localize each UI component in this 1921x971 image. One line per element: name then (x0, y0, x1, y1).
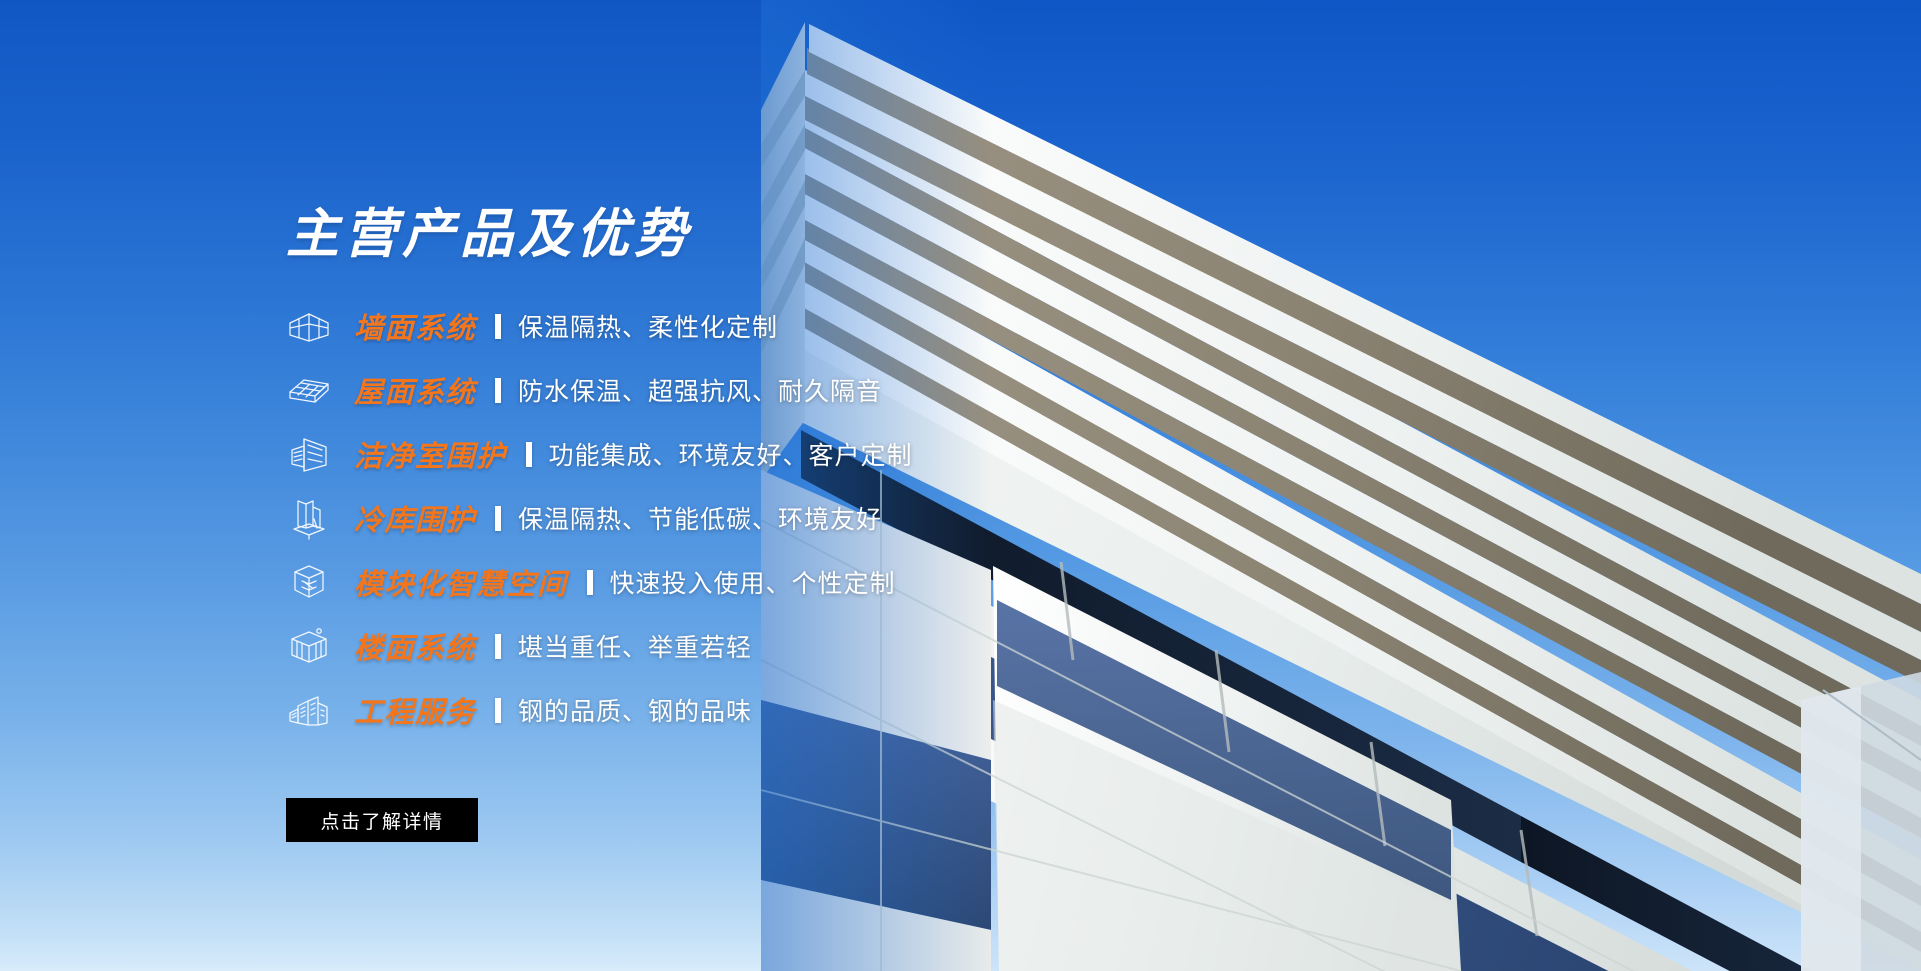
product-description: 防水保温、超强抗风、耐久隔音 (518, 372, 882, 408)
modular-cube-icon (286, 559, 332, 605)
title-separator (495, 314, 501, 339)
product-title: 楼面系统 (354, 625, 476, 667)
list-item[interactable]: 模块化智慧空间 快速投入使用、个性定制 (286, 550, 1266, 614)
promo-content: 主营产品及优势 墙面系统 保温隔热、柔性化定制 (286, 0, 1266, 971)
product-description: 快速投入使用、个性定制 (610, 564, 896, 600)
product-description: 功能集成、环境友好、客户定制 (549, 436, 913, 472)
list-item[interactable]: 楼面系统 堪当重任、举重若轻 (286, 614, 1266, 678)
title-separator (495, 634, 501, 659)
title-separator (526, 442, 532, 467)
engineering-service-icon (286, 687, 332, 733)
product-description: 保温隔热、柔性化定制 (518, 308, 778, 344)
product-title: 屋面系统 (354, 369, 476, 411)
cold-storage-item[interactable]: 冷库围护 保温隔热、节能低碳、环境友好 (286, 486, 1266, 550)
cold-storage-icon (286, 495, 332, 541)
product-title: 模块化智慧空间 (354, 561, 568, 603)
product-description: 钢的品质、钢的品味 (518, 692, 752, 728)
product-list: 墙面系统 保温隔热、柔性化定制 屋面系统 (286, 294, 1266, 742)
product-title: 冷库围护 (354, 497, 476, 539)
roof-panel-icon (286, 367, 332, 413)
list-item[interactable]: 屋面系统 防水保温、超强抗风、耐久隔音 (286, 358, 1266, 422)
product-title: 工程服务 (354, 689, 476, 731)
wall-panel-icon (286, 303, 332, 349)
title-separator (495, 506, 501, 531)
product-title: 洁净室围护 (354, 433, 507, 475)
page-title: 主营产品及优势 (286, 208, 692, 261)
product-title: 墙面系统 (354, 305, 476, 347)
cleanroom-building-icon (286, 431, 332, 477)
promo-banner: 主营产品及优势 墙面系统 保温隔热、柔性化定制 (0, 0, 1921, 971)
title-separator (495, 378, 501, 403)
product-description: 堪当重任、举重若轻 (518, 628, 752, 664)
product-description: 保温隔热、节能低碳、环境友好 (518, 500, 882, 536)
list-item[interactable]: 工程服务 钢的品质、钢的品味 (286, 678, 1266, 742)
learn-more-button[interactable]: 点击了解详情 (286, 798, 478, 842)
list-item[interactable]: 墙面系统 保温隔热、柔性化定制 (286, 294, 1266, 358)
title-separator (495, 698, 501, 723)
list-item[interactable]: 洁净室围护 功能集成、环境友好、客户定制 (286, 422, 1266, 486)
floor-deck-icon (286, 623, 332, 669)
title-separator (587, 570, 593, 595)
